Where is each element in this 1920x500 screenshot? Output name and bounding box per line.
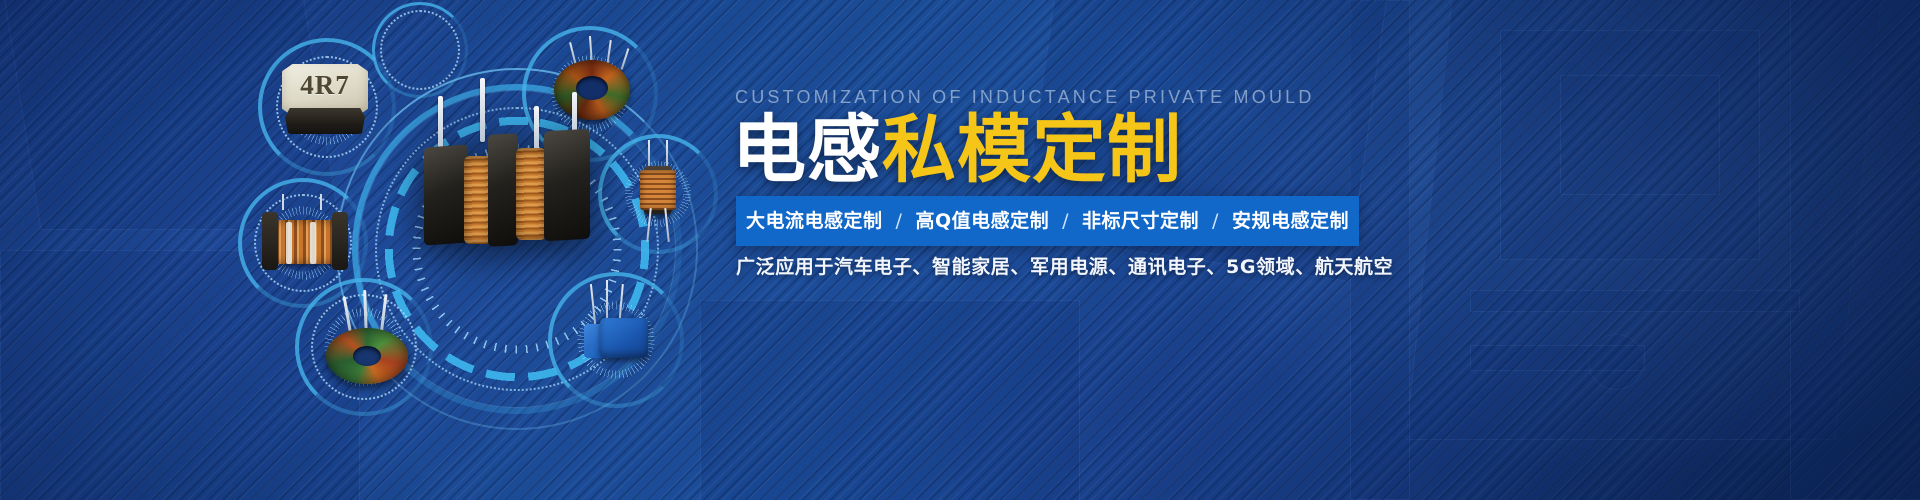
feature-item-1: 高Q值电感定制 bbox=[915, 212, 1049, 231]
feature-list: 大电流电感定制 / 高Q值电感定制 / 非标尺寸定制 / 安规电感定制 bbox=[746, 212, 1349, 231]
flat-choke-winding bbox=[272, 220, 338, 264]
inductance-custom-mould-banner: 4R7 bbox=[0, 0, 1920, 500]
choke-core-right bbox=[544, 129, 590, 241]
banner-title: 电感私模定制 bbox=[732, 112, 1182, 190]
smd-base bbox=[285, 108, 365, 134]
green-toroid-hole bbox=[353, 346, 381, 366]
product-green-toroidal-choke bbox=[320, 302, 414, 392]
flat-choke-bobbin-left bbox=[262, 212, 278, 270]
smd-part-label: 4R7 bbox=[282, 72, 368, 99]
rod-winding bbox=[640, 170, 676, 210]
toroid-core-hole bbox=[576, 76, 608, 100]
product-blue-radial-inductor bbox=[578, 310, 658, 382]
choke-winding-right bbox=[516, 148, 546, 240]
feature-separator-0: / bbox=[883, 212, 916, 231]
product-rod-core-inductor bbox=[622, 152, 694, 244]
feature-item-2: 非标尺寸定制 bbox=[1082, 212, 1199, 231]
banner-eyebrow-english: CUSTOMIZATION OF INDUCTANCE PRIVATE MOUL… bbox=[735, 88, 1315, 106]
choke-core-middle bbox=[488, 133, 518, 247]
feature-item-0: 大电流电感定制 bbox=[746, 212, 883, 231]
product-smd-power-inductor: 4R7 bbox=[282, 64, 368, 142]
banner-title-white: 电感 bbox=[732, 107, 882, 193]
feature-separator-2: / bbox=[1199, 212, 1232, 231]
banner-title-gold: 私模定制 bbox=[882, 107, 1182, 193]
product-common-mode-choke-cluster bbox=[416, 112, 606, 272]
banner-description: 广泛应用于汽车电子、智能家居、军用电源、通讯电子、5G领域、航天航空 bbox=[736, 258, 1393, 277]
product-flat-wire-choke bbox=[262, 206, 348, 280]
choke-core-left bbox=[424, 144, 468, 245]
flat-choke-bobbin-right bbox=[332, 212, 348, 270]
banner-text-content: CUSTOMIZATION OF INDUCTANCE PRIVATE MOUL… bbox=[735, 0, 1795, 500]
ring-small-top-outer-icon bbox=[372, 2, 468, 98]
feature-separator-1: / bbox=[1049, 212, 1082, 231]
blue-inductor-body bbox=[600, 318, 648, 358]
feature-highlight-bar: 大电流电感定制 / 高Q值电感定制 / 非标尺寸定制 / 安规电感定制 bbox=[736, 196, 1359, 246]
feature-item-3: 安规电感定制 bbox=[1232, 212, 1349, 231]
